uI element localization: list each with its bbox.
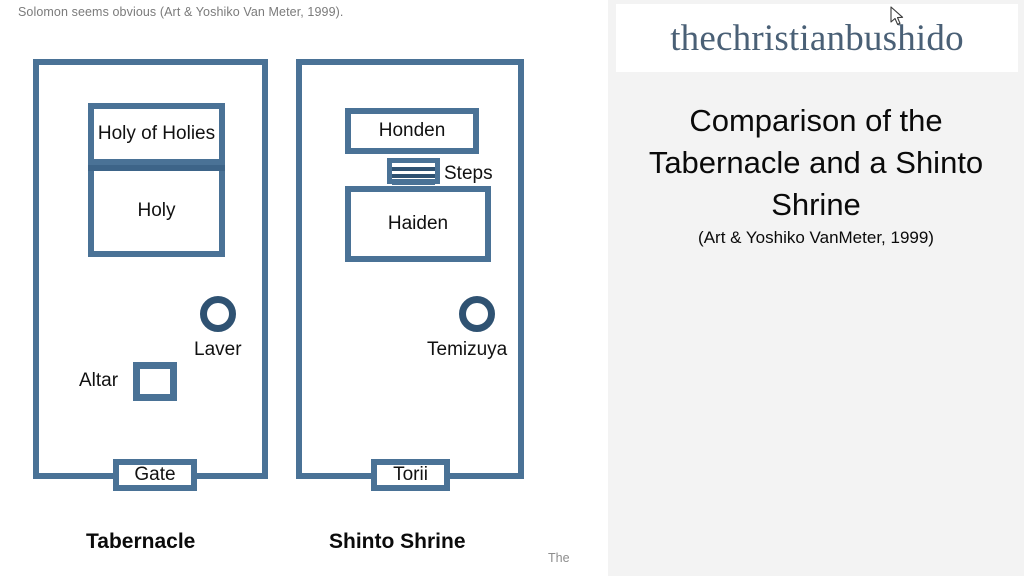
sidebar-pane: thechristianbushido Comparison of the Ta… <box>608 0 1024 576</box>
page-title: Comparison of the Tabernacle and a Shint… <box>624 100 1008 226</box>
altar-icon <box>133 362 177 401</box>
altar-label: Altar <box>79 370 118 392</box>
room-honden: Honden <box>345 108 479 154</box>
shinto-shrine-caption: Shinto Shrine <box>329 530 466 554</box>
laver-icon <box>200 296 236 332</box>
steps-label: Steps <box>444 163 493 185</box>
room-haiden: Haiden <box>345 186 491 262</box>
temizuya-label: Temizuya <box>427 339 507 361</box>
torii-label: Torii <box>393 464 428 486</box>
room-honden-label: Honden <box>379 120 446 142</box>
steps-icon <box>387 158 440 184</box>
gate-label: Gate <box>134 464 175 486</box>
room-holy-of-holies-label: Holy of Holies <box>98 123 215 145</box>
room-holy-of-holies: Holy of Holies <box>88 103 225 165</box>
room-haiden-label: Haiden <box>388 213 448 235</box>
room-holy-label: Holy <box>137 200 175 222</box>
temizuya-icon <box>459 296 495 332</box>
room-holy: Holy <box>88 165 225 257</box>
site-wordmark[interactable]: thechristianbushido <box>670 17 964 60</box>
site-brand-band[interactable]: thechristianbushido <box>616 4 1018 72</box>
article-content-pane: Solomon seems obvious (Art & Yoshiko Van… <box>0 0 608 576</box>
page-title-citation: (Art & Yoshiko VanMeter, 1999) <box>624 228 1008 248</box>
tabernacle-caption: Tabernacle <box>86 530 195 554</box>
sanctuary-divider <box>88 165 225 171</box>
laver-label: Laver <box>194 339 242 361</box>
gate-box: Gate <box>113 459 197 491</box>
torii-box: Torii <box>371 459 450 491</box>
article-lead-text: Solomon seems obvious (Art & Yoshiko Van… <box>18 5 343 19</box>
article-trailing-text: The <box>548 551 570 565</box>
